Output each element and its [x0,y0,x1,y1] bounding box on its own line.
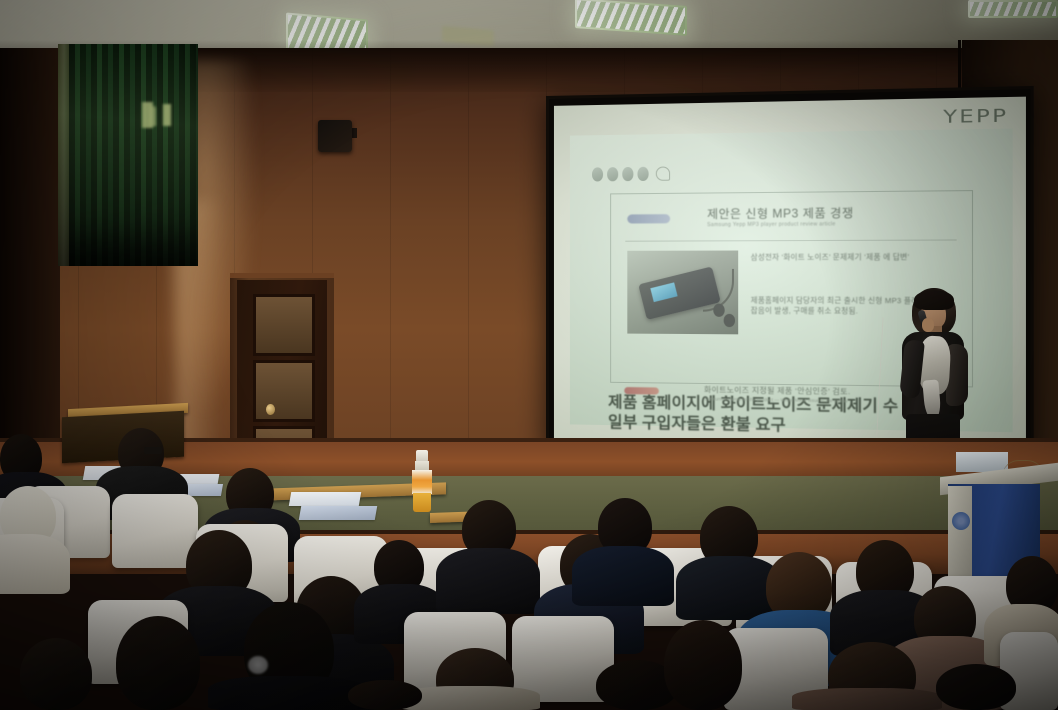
earbud-icon-2 [724,314,735,327]
podium-side-panel [948,486,972,590]
card-title: 제안은 신형 MP3 제품 경쟁 [707,205,854,222]
mp3-player-photo [627,251,738,335]
audience-body-m3 [436,548,540,614]
presenter-bangs [914,290,954,310]
notebook-4 [289,492,361,506]
decor-outline-icon [656,166,670,180]
card-subtitle: Samsung Yepp MP3 player product review a… [707,221,836,228]
wall-speaker [318,120,352,152]
audience-body-f6 [792,688,942,710]
door-panel-middle [253,360,315,422]
audience-head-f5 [664,620,742,710]
chair-back-2[interactable] [112,494,198,568]
yepp-brand-logo: YEPP [943,106,1008,128]
door-panel-top [253,294,315,356]
presenter-hand [922,318,934,332]
slide-footer-subtext: Consumer claims for the product — White … [704,396,847,403]
slide-decorative-dots [592,166,670,181]
card-header: 제안은 신형 MP3 제품 경쟁 Samsung Yepp MP3 player… [627,204,956,237]
bottle-label [412,470,432,494]
door-knob[interactable] [266,404,275,415]
notebook-5 [299,506,377,520]
bottle-body [413,493,431,512]
decor-dot-icon-1 [592,167,603,181]
lecture-hall-photo: YEPP 제안은 신형 MP3 제품 경쟁 Samsung Yepp MP3 p… [0,0,1058,710]
audience-head-f0 [20,638,92,710]
footer-logo-icon [624,387,659,395]
eyeglasses-icon [144,447,162,454]
card-divider [625,239,956,241]
podium-emblem-icon [952,512,970,530]
decor-dot-icon-4 [637,167,648,181]
hair-clip-icon [248,656,268,674]
card-body-text-1: 삼성전자 ‘화이트 노이즈’ 문제제기 ‘제품 에 답변’ [751,252,957,263]
audience-body-m0 [0,534,70,594]
company-logo-icon [627,214,670,223]
audience-body-f2 [208,676,368,710]
audience-head-f8 [348,680,422,710]
ceiling-light-panel-3 [968,0,1058,18]
earbud-icon-1 [713,304,724,317]
curtain-shading [58,44,198,266]
orange-juice-bottle[interactable] [412,450,432,512]
decor-dot-icon-3 [622,167,633,181]
decor-dot-icon-2 [607,167,618,181]
audience-head-f7 [936,664,1016,710]
audience-head-f1 [116,616,200,710]
audience-body-m5 [572,546,674,606]
slide-footer-text: 화이트노이즈 지정될 제품 ‘안심인증’ 검토. [704,384,850,397]
wall-left-shadow [0,48,60,468]
